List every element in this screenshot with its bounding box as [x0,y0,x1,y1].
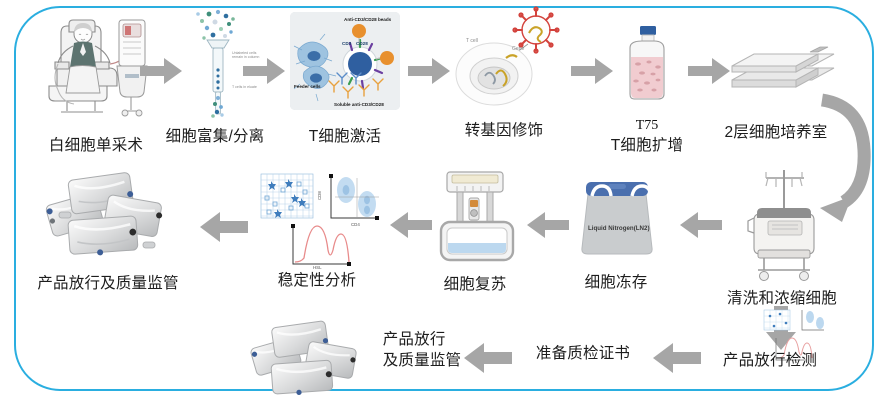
step-label: 白细胞单采术 [49,137,143,155]
svg-text:CD8: CD8 [317,191,322,200]
svg-text:Anti-CD3/CD28 beads: Anti-CD3/CD28 beads [344,17,392,22]
arrow-left-4 [200,212,248,242]
svg-text:CD28: CD28 [356,41,368,46]
svg-text:HSL: HSL [313,265,322,270]
svg-text:Soluble anti-CD3/CD28: Soluble anti-CD3/CD28 [334,102,384,107]
step-label: 细胞复苏 [444,276,507,294]
separation-column-icon: Unlabeled cells remain in column T cells… [185,8,245,120]
workflow-diagram: 白细胞单采术 [0,0,888,403]
svg-text:Feeder cells: Feeder cells [294,84,321,89]
t-cell-activation-icon: Anti-CD3/CD28 beads CD3 CD28 Feeder cell… [290,12,400,110]
step-label: T细胞扩增 [611,137,683,155]
apheresis-chair-icon [37,12,155,123]
svg-text:T cell: T cell [466,38,478,44]
step-transduction: T cell Gene 转基因修饰 [442,6,566,140]
step-stability: CD8 CD4 HSL 稳定性分析 [253,170,381,290]
arrow-left-3 [390,212,432,238]
step-label: 准备质检证书 [536,345,630,363]
step-label: 产品放行 及质量监管 [383,330,462,372]
step-label: T细胞激活 [309,128,381,146]
step-wash-concentrate: 清洗和浓缩细胞 [712,166,852,308]
svg-text:CD4: CD4 [351,222,360,227]
step-final-release: 产品放行 及质量监管 [372,330,472,372]
svg-text:CD3: CD3 [342,41,352,46]
step-label: 产品放行及质量监管 [37,275,178,293]
svg-text:Gene: Gene [512,46,524,52]
cell-thawing-device-icon [431,168,519,266]
ln2-tank-icon: Liquid Nitrogen(LN2) [568,172,664,262]
arrow-right-2 [243,58,285,84]
svg-text:T cells in eluate: T cells in eluate [232,85,257,89]
cell-washer-icon [736,166,828,284]
gene-transduction-icon: T cell Gene [444,6,564,114]
arrow-left-2 [527,212,569,238]
svg-text:Liquid Nitrogen(LN2): Liquid Nitrogen(LN2) [588,225,650,232]
step-coa-prep: 准备质检证书 [518,345,648,363]
step-thawing: 细胞复苏 [425,168,525,294]
step-label: 稳定性分析 [278,272,357,290]
step-label: 细胞富集/分离 [166,128,265,146]
step-label: 产品放行检测 [700,352,840,370]
t75-flask-icon [616,24,678,116]
product-bags-icon [43,168,173,265]
step-release-qc: 产品放行及质量监管 [18,168,198,293]
product-bags-icon-final [250,318,368,401]
step-activation: Anti-CD3/CD28 beads CD3 CD28 Feeder cell… [289,12,401,146]
step-expansion: T75 T细胞扩增 [603,24,691,155]
flask-size-label: T75 [636,118,659,134]
step-cryopreservation: Liquid Nitrogen(LN2) 细胞冻存 [561,172,671,292]
arrow-left-1 [680,212,722,238]
step-label: 转基因修饰 [465,122,544,140]
flow-cytometry-plots-icon: CD8 CD4 HSL [257,170,377,266]
step-label: 细胞冻存 [585,274,648,292]
arrow-left-r3-1 [653,343,701,373]
